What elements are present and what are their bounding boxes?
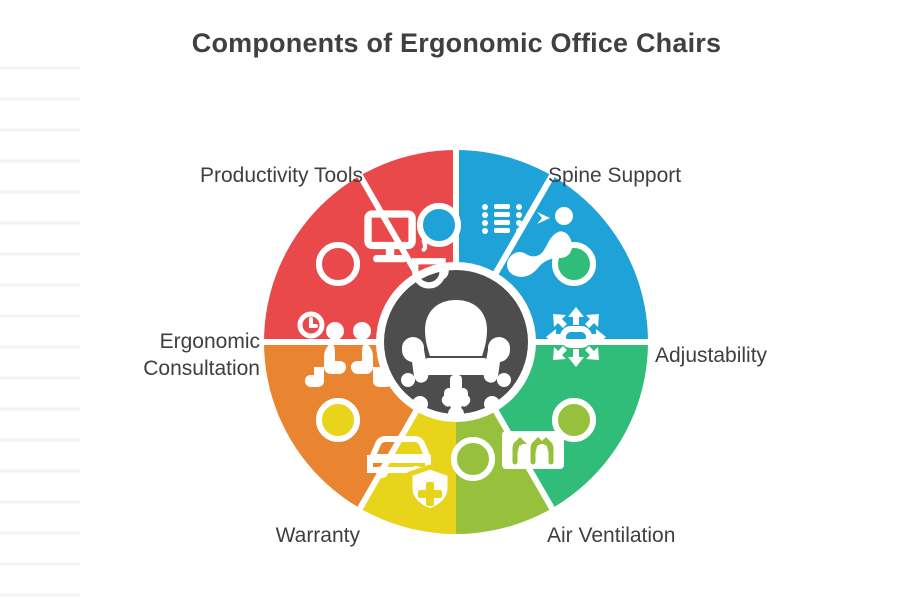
segment-label-spine-support: Spine Support xyxy=(548,162,768,189)
segment-label-warranty: Warranty xyxy=(160,522,360,549)
segment-label-adjustability: Adjustability xyxy=(655,342,875,369)
segment-label-ergonomic-consultation: Ergonomic Consultation xyxy=(40,328,260,382)
segment-label-air-ventilation: Air Ventilation xyxy=(547,522,777,549)
air-vent-arrows-icon xyxy=(502,431,564,469)
wheel-svg xyxy=(256,142,656,542)
puzzle-wheel-diagram: Productivity Tools Spine Support Adjusta… xyxy=(0,0,913,605)
segment-label-productivity-tools: Productivity Tools xyxy=(163,162,363,189)
